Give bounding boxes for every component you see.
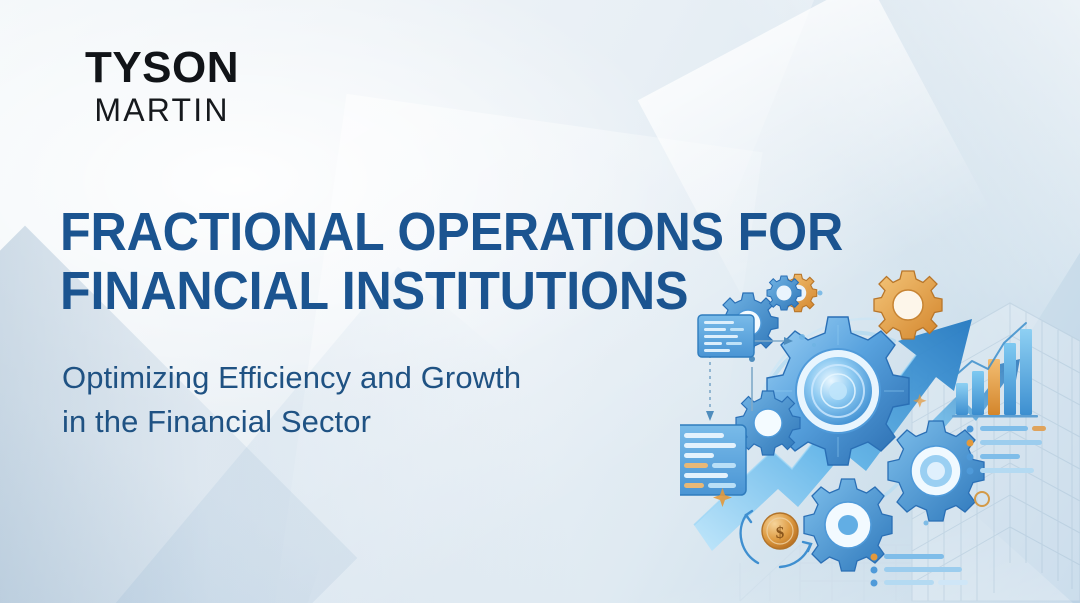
- slide-subtitle-line-1: Optimizing Efficiency and Growth: [62, 356, 722, 400]
- gear-blue-tiny: [767, 276, 801, 310]
- document-card-small: [698, 315, 754, 357]
- dollar-coin: $: [762, 513, 798, 549]
- logo-primary-text: TYSON: [62, 46, 262, 90]
- brand-logo: TYSON MARTIN: [62, 46, 262, 126]
- slide-subtitle-line-2: in the Financial Sector: [62, 400, 722, 444]
- svg-text:$: $: [776, 523, 785, 542]
- slide-title-line-1: FRACTIONAL OPERATIONS FOR: [60, 203, 804, 262]
- financial-operations-illustration: $: [680, 263, 1080, 603]
- presentation-slide: TYSON MARTIN FRACTIONAL OPERATIONS FOR F…: [0, 0, 1080, 603]
- gear-medium-bottom: [804, 479, 892, 571]
- document-card-large: [680, 425, 746, 495]
- gear-orange-top: [874, 271, 942, 339]
- slide-subtitle: Optimizing Efficiency and Growth in the …: [62, 356, 722, 444]
- logo-secondary-text: MARTIN: [62, 94, 262, 126]
